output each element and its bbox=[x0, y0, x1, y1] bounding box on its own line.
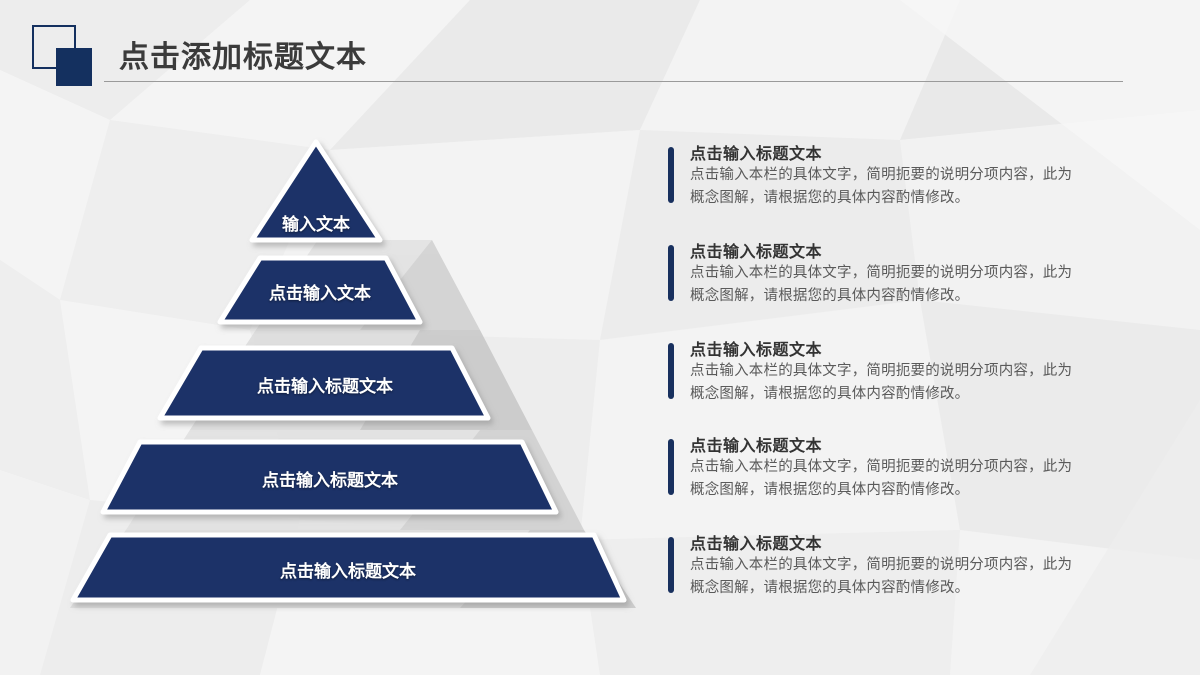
description-block: 点击输入标题文本 点击输入本栏的具体文字，简明扼要的说明分项内容，此为概念图解，… bbox=[668, 432, 1086, 512]
description-block-list: 点击输入标题文本 点击输入本栏的具体文字，简明扼要的说明分项内容，此为概念图解，… bbox=[668, 140, 1098, 630]
block-title: 点击输入标题文本 bbox=[690, 530, 822, 554]
block-title: 点击输入标题文本 bbox=[690, 336, 822, 360]
block-body: 点击输入本栏的具体文字，简明扼要的说明分项内容，此为概念图解，请根据您的具体内容… bbox=[690, 360, 1082, 406]
description-block: 点击输入标题文本 点击输入本栏的具体文字，简明扼要的说明分项内容，此为概念图解，… bbox=[668, 140, 1086, 220]
block-accent-bar bbox=[668, 147, 674, 203]
block-body: 点击输入本栏的具体文字，简明扼要的说明分项内容，此为概念图解，请根据您的具体内容… bbox=[690, 164, 1082, 210]
pyramid-tier-4 bbox=[103, 442, 556, 512]
block-body: 点击输入本栏的具体文字，简明扼要的说明分项内容，此为概念图解，请根据您的具体内容… bbox=[690, 456, 1082, 502]
description-block: 点击输入标题文本 点击输入本栏的具体文字，简明扼要的说明分项内容，此为概念图解，… bbox=[668, 530, 1086, 610]
slide-canvas: 点击添加标题文本 bbox=[0, 0, 1200, 675]
block-accent-bar bbox=[668, 439, 674, 495]
block-body: 点击输入本栏的具体文字，简明扼要的说明分项内容，此为概念图解，请根据您的具体内容… bbox=[690, 262, 1082, 308]
pyramid-tier-2 bbox=[220, 258, 420, 322]
block-title: 点击输入标题文本 bbox=[690, 432, 822, 456]
block-accent-bar bbox=[668, 245, 674, 301]
description-block: 点击输入标题文本 点击输入本栏的具体文字，简明扼要的说明分项内容，此为概念图解，… bbox=[668, 336, 1086, 416]
double-square-logo-icon bbox=[32, 25, 92, 87]
logo-filled-square bbox=[56, 48, 92, 86]
block-accent-bar bbox=[668, 537, 674, 593]
page-title: 点击添加标题文本 bbox=[119, 32, 367, 76]
pyramid-tier-1 bbox=[252, 142, 380, 240]
block-title: 点击输入标题文本 bbox=[690, 140, 822, 164]
block-body: 点击输入本栏的具体文字，简明扼要的说明分项内容，此为概念图解，请根据您的具体内容… bbox=[690, 554, 1082, 600]
description-block: 点击输入标题文本 点击输入本栏的具体文字，简明扼要的说明分项内容，此为概念图解，… bbox=[668, 238, 1086, 318]
block-title: 点击输入标题文本 bbox=[690, 238, 822, 262]
header-divider bbox=[104, 81, 1123, 82]
pyramid-diagram: 输入文本 点击输入文本 点击输入标题文本 点击输入标题文本 点击输入标题文本 bbox=[60, 130, 660, 630]
slide-header: 点击添加标题文本 bbox=[0, 0, 1200, 92]
pyramid-tier-3 bbox=[160, 348, 488, 418]
block-accent-bar bbox=[668, 343, 674, 399]
pyramid-tier-5 bbox=[73, 535, 624, 600]
